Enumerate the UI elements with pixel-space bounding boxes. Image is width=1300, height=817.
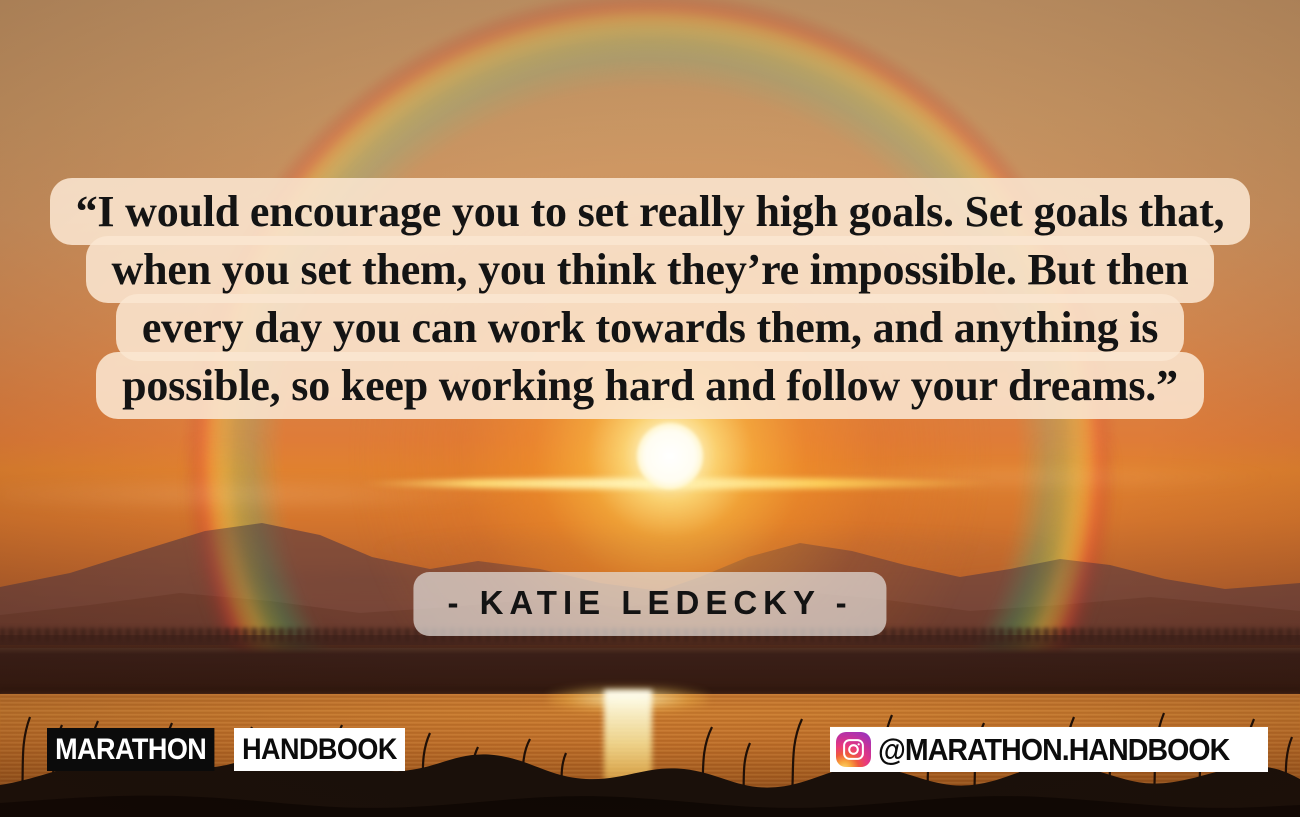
instagram-badge[interactable]: @MARATHON.HANDBOOK xyxy=(830,727,1268,772)
logo-word-marathon: MARATHON xyxy=(47,728,214,771)
author-badge: - KATIE LEDECKY - xyxy=(413,572,886,636)
instagram-handle: @MARATHON.HANDBOOK xyxy=(878,734,1229,765)
quote-graphic: “I would encourage you to set really hig… xyxy=(0,0,1300,817)
author-name: - KATIE LEDECKY - xyxy=(447,586,852,620)
logo-word-handbook: HANDBOOK xyxy=(234,728,405,771)
background-photo xyxy=(0,0,1300,817)
instagram-icon xyxy=(836,732,871,767)
marathon-handbook-logo: MARATHON HANDBOOK xyxy=(47,728,424,771)
vignette xyxy=(0,0,1300,817)
